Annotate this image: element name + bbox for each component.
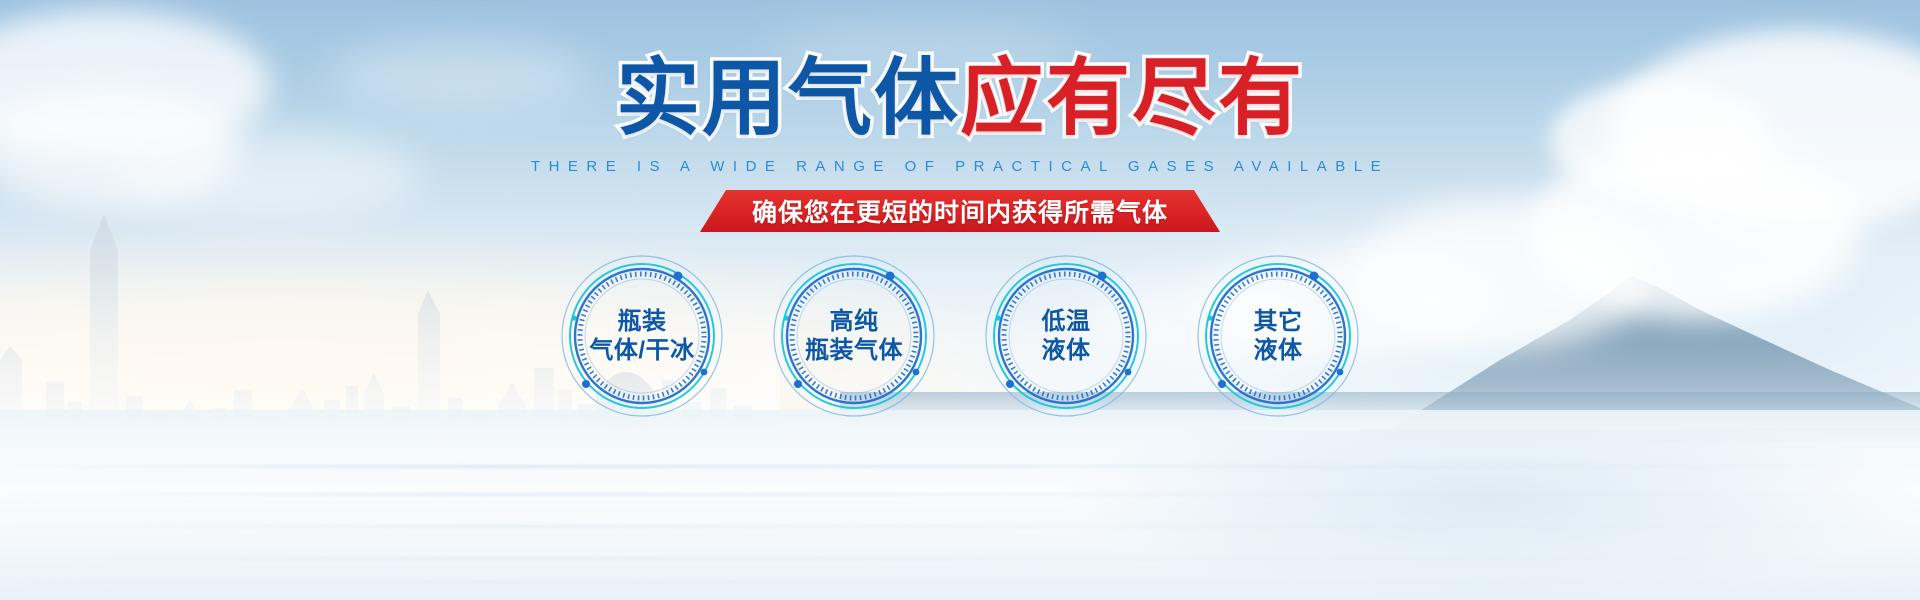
badge-label: 低温 液体	[1042, 307, 1091, 366]
badge-bottled-gas-dry-ice[interactable]: 瓶装 气体/干冰	[558, 252, 726, 420]
headline: 实用气体应有尽有	[0, 56, 1920, 140]
badge-label: 其它 液体	[1254, 307, 1303, 366]
badge-high-purity-bottled-gas[interactable]: 高纯 瓶装气体	[770, 252, 938, 420]
tagline-ribbon-text: 确保您在更短的时间内获得所需气体	[752, 193, 1168, 229]
gas-products-banner: 实用气体应有尽有 THERE IS A WIDE RANGE OF PRACTI…	[0, 0, 1920, 600]
badge-label-line2: 气体/干冰	[589, 336, 694, 365]
headline-red-text: 应有尽有	[960, 56, 1304, 140]
ribbon-container: 确保您在更短的时间内获得所需气体	[0, 190, 1920, 232]
badge-label-line2: 液体	[1042, 336, 1091, 365]
badge-label-line2: 液体	[1254, 336, 1303, 365]
headline-blue-text: 实用气体	[616, 56, 960, 140]
badge-other-liquid[interactable]: 其它 液体	[1194, 252, 1362, 420]
badge-label-line1: 高纯	[830, 308, 879, 335]
tagline-ribbon: 确保您在更短的时间内获得所需气体	[700, 190, 1220, 232]
badge-label-line1: 低温	[1042, 308, 1091, 335]
badge-label: 高纯 瓶装气体	[805, 307, 903, 366]
badge-label-line2: 瓶装气体	[805, 336, 903, 365]
badge-label-line1: 瓶装	[617, 308, 666, 335]
banner-content: 实用气体应有尽有 THERE IS A WIDE RANGE OF PRACTI…	[0, 0, 1920, 600]
badge-label-line1: 其它	[1254, 308, 1303, 335]
headline-subtitle-english: THERE IS A WIDE RANGE OF PRACTICAL GASES…	[0, 158, 1920, 175]
product-category-badges: 瓶装 气体/干冰	[0, 252, 1920, 420]
badge-label: 瓶装 气体/干冰	[589, 307, 694, 366]
badge-cryogenic-liquid[interactable]: 低温 液体	[982, 252, 1150, 420]
